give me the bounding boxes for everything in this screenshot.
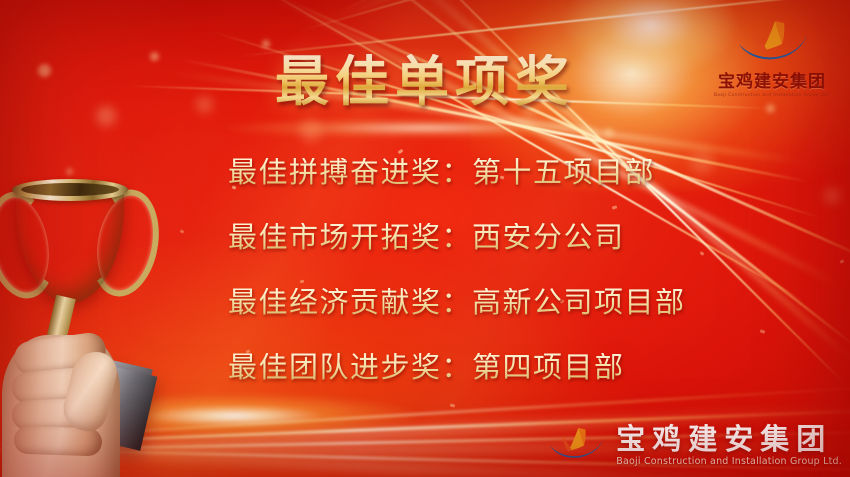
award-list: 最佳拼搏奋进奖：第十五项目部 最佳市场开拓奖：西安分公司 最佳经济贡献奖：高新公… — [228, 158, 828, 382]
trophy-illustration — [0, 155, 224, 477]
title-shine — [225, 118, 625, 138]
award-slide: 最佳单项奖 最佳拼搏奋进奖：第十五项目部 最佳市场开拓奖：西安分公司 最佳经济贡… — [0, 0, 850, 477]
logo-top-right-name-en: Baoji Construction and Installation Grou… — [706, 93, 838, 98]
sail-swoosh-logo-icon — [544, 426, 608, 464]
logo-bottom-right-name-en: Baoji Construction and Installation Grou… — [616, 456, 842, 467]
award-row: 最佳经济贡献奖：高新公司项目部 — [228, 288, 828, 317]
award-row: 最佳团队进步奖：第四项目部 — [228, 353, 828, 382]
logo-top-right: 宝鸡建安集团 Baoji Construction and Installati… — [706, 20, 838, 98]
award-row: 最佳拼搏奋进奖：第十五项目部 — [228, 158, 828, 187]
logo-bottom-right-name-cn: 宝鸡建安集团 — [616, 424, 842, 454]
logo-bottom-right: 宝鸡建安集团 Baoji Construction and Installati… — [544, 424, 842, 467]
trophy-rim-inner — [21, 183, 119, 196]
award-row: 最佳市场开拓奖：西安分公司 — [228, 223, 828, 252]
sail-swoosh-logo-icon — [731, 20, 813, 66]
logo-top-right-name-cn: 宝鸡建安集团 — [706, 67, 838, 92]
